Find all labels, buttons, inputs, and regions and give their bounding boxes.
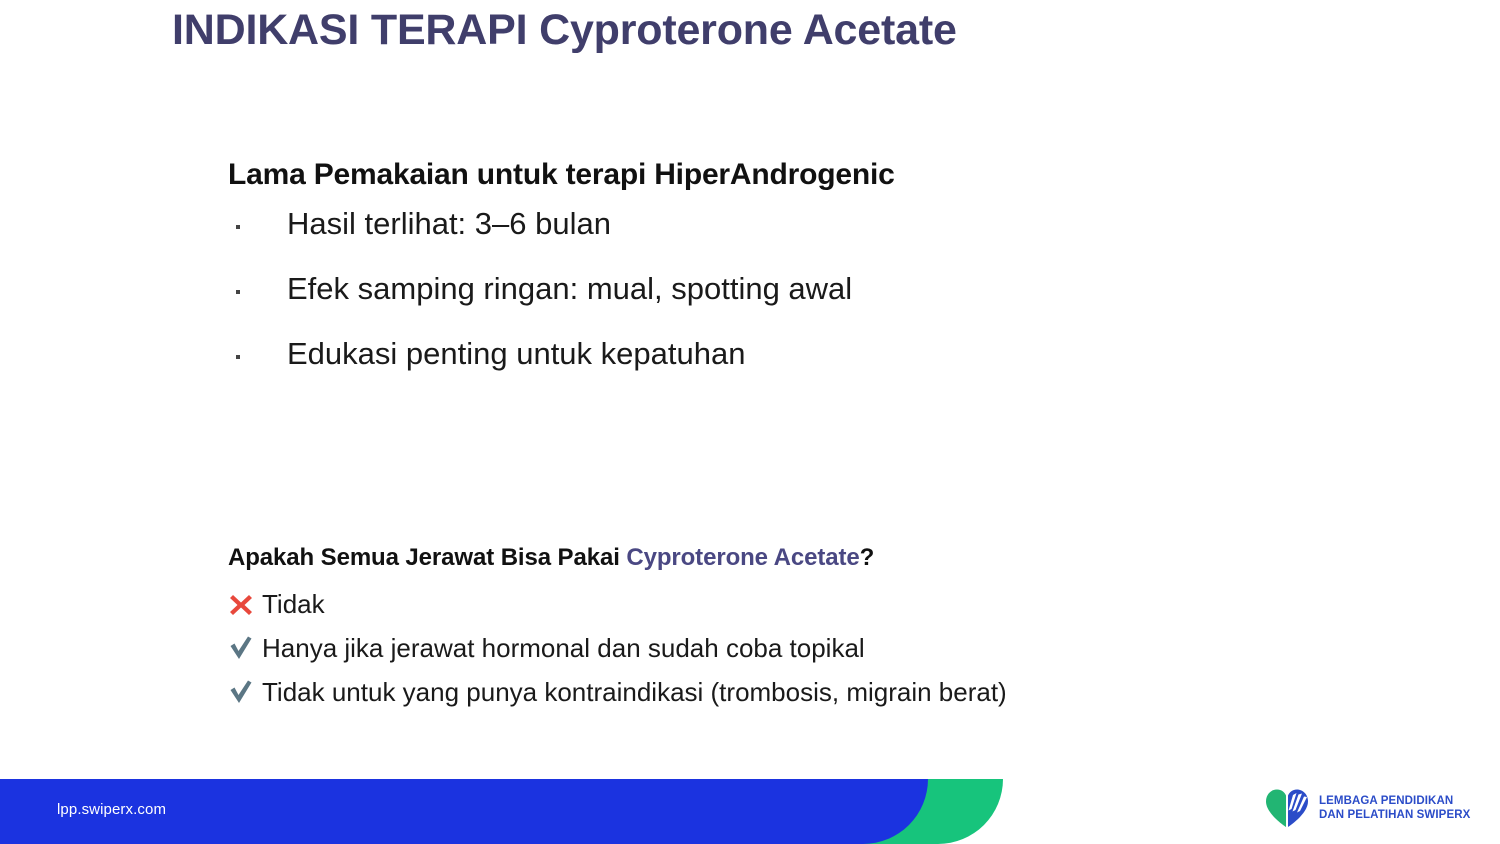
- bullet-dot-icon: [236, 225, 240, 229]
- list-item: Hasil terlihat: 3–6 bulan: [228, 208, 1228, 239]
- check-mark-icon: [228, 677, 262, 707]
- list-item-label: Tidak: [262, 591, 325, 617]
- logo-text-line2: DAN PELATIHAN SWIPERX: [1319, 809, 1470, 821]
- heart-book-logo-icon: [1263, 786, 1311, 830]
- bullet-dot-icon: [236, 355, 240, 359]
- check-mark-icon: [228, 633, 262, 663]
- list-item: Hanya jika jerawat hormonal dan sudah co…: [228, 633, 1328, 663]
- list-item: Tidak untuk yang punya kontraindikasi (t…: [228, 677, 1328, 707]
- eligibility-answer-list: Tidak Hanya jika jerawat hormonal dan su…: [228, 589, 1328, 707]
- list-item-label: Tidak untuk yang punya kontraindikasi (t…: [262, 679, 1007, 705]
- logo-text: LEMBAGA PENDIDIKAN DAN PELATIHAN SWIPERX: [1319, 794, 1470, 823]
- cross-mark-icon: [228, 589, 262, 619]
- therapy-duration-bullet-list: Hasil terlihat: 3–6 bulan Efek samping r…: [228, 208, 1228, 369]
- page-title: INDIKASI TERAPI Cyproterone Acetate: [172, 6, 957, 55]
- list-item-label: Hasil terlihat: 3–6 bulan: [287, 206, 611, 241]
- swiperx-lpp-logo: LEMBAGA PENDIDIKAN DAN PELATIHAN SWIPERX: [1263, 786, 1470, 830]
- list-item: Edukasi penting untuk kepatuhan: [228, 338, 1228, 369]
- footer-url-label: lpp.swiperx.com: [57, 801, 166, 818]
- list-item: Tidak: [228, 589, 1328, 619]
- eligibility-section: Apakah Semua Jerawat Bisa Pakai Cyproter…: [228, 544, 1328, 721]
- bullet-dot-icon: [236, 290, 240, 294]
- list-item: Efek samping ringan: mual, spotting awal: [228, 273, 1228, 304]
- list-item-label: Efek samping ringan: mual, spotting awal: [287, 271, 852, 306]
- list-item-label: Hanya jika jerawat hormonal dan sudah co…: [262, 635, 865, 661]
- question-highlight-drug-name: Cyproterone Acetate: [626, 544, 859, 571]
- eligibility-question: Apakah Semua Jerawat Bisa Pakai Cyproter…: [228, 544, 1328, 572]
- logo-text-line1: LEMBAGA PENDIDIKAN: [1319, 795, 1453, 807]
- slide-canvas: INDIKASI TERAPI Cyproterone Acetate Lama…: [0, 0, 1500, 844]
- therapy-duration-section: Lama Pemakaian untuk terapi HiperAndroge…: [228, 158, 1228, 403]
- list-item-label: Edukasi penting untuk kepatuhan: [287, 336, 745, 371]
- question-suffix: ?: [860, 544, 875, 571]
- section-subheading: Lama Pemakaian untuk terapi HiperAndroge…: [228, 158, 1228, 192]
- question-prefix: Apakah Semua Jerawat Bisa Pakai: [228, 544, 626, 571]
